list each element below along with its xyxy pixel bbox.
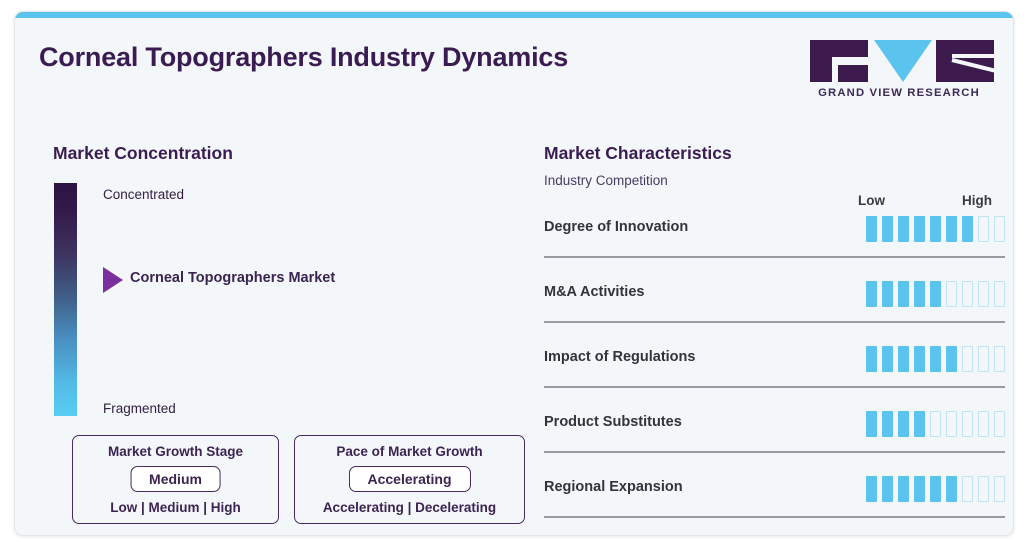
logo-r-icon [936,40,994,82]
rating-tick-empty [994,346,1005,372]
rating-tick-filled [882,281,893,307]
characteristic-row: Product Substitutes [544,403,1005,468]
characteristic-row: Degree of Innovation [544,208,1005,273]
rating-tick-empty [946,281,957,307]
market-growth-stage-options: Low | Medium | High [73,500,278,515]
logo-v-triangle-icon [874,40,932,82]
rating-tick-filled [866,476,877,502]
rating-tick-empty [978,346,989,372]
rating-tick-filled [930,281,941,307]
logo-marks [794,40,1004,82]
industry-competition-subheading: Industry Competition [544,173,668,188]
rating-tick-empty [962,346,973,372]
pace-of-market-growth-box: Pace of Market Growth Accelerating Accel… [294,435,525,524]
rating-tick-empty [930,411,941,437]
rating-tick-filled [930,476,941,502]
characteristic-rating-bars [866,411,1005,437]
characteristic-label: Product Substitutes [544,414,682,430]
market-growth-stage-box: Market Growth Stage Medium Low | Medium … [72,435,279,524]
rating-tick-filled [866,346,877,372]
rating-tick-empty [962,281,973,307]
card-accent-bar [15,12,1013,18]
rating-tick-filled [882,346,893,372]
rating-tick-filled [914,346,925,372]
rating-tick-filled [898,281,909,307]
market-growth-stage-value: Medium [130,466,221,492]
characteristic-label: Degree of Innovation [544,219,688,235]
rating-tick-filled [946,216,957,242]
characteristic-rating-bars [866,281,1005,307]
grand-view-research-logo: GRAND VIEW RESEARCH [794,40,1004,108]
rating-tick-filled [914,216,925,242]
rating-tick-empty [994,476,1005,502]
characteristic-label: Impact of Regulations [544,349,695,365]
rating-tick-empty [994,281,1005,307]
rating-tick-empty [994,216,1005,242]
rating-tick-filled [866,216,877,242]
row-divider [544,256,1005,258]
rating-tick-filled [866,281,877,307]
characteristic-row: Impact of Regulations [544,338,1005,403]
row-divider [544,321,1005,323]
rating-tick-filled [898,346,909,372]
rating-tick-filled [898,411,909,437]
page-title: Corneal Topographers Industry Dynamics [39,42,568,73]
concentration-top-label: Concentrated [103,187,184,202]
characteristic-label: M&A Activities [544,284,644,300]
pace-of-market-growth-value: Accelerating [348,466,470,492]
concentration-bottom-label: Fragmented [103,401,176,416]
rating-tick-filled [946,476,957,502]
characteristic-label: Regional Expansion [544,479,683,495]
row-divider [544,451,1005,453]
rating-tick-filled [866,411,877,437]
rating-tick-filled [882,411,893,437]
rating-tick-empty [978,216,989,242]
rating-tick-filled [930,346,941,372]
rating-tick-filled [962,216,973,242]
market-position-label: Corneal Topographers Market [130,270,335,286]
rating-tick-filled [898,476,909,502]
rating-tick-filled [914,281,925,307]
concentration-gradient-bar [54,183,77,416]
rating-tick-empty [962,476,973,502]
market-position-arrow-icon [103,267,123,293]
market-growth-stage-title: Market Growth Stage [73,444,278,459]
rating-tick-filled [882,476,893,502]
market-concentration-heading: Market Concentration [53,143,233,164]
rating-tick-filled [930,216,941,242]
rating-tick-empty [978,476,989,502]
row-divider [544,386,1005,388]
characteristic-row: M&A Activities [544,273,1005,338]
rating-tick-filled [882,216,893,242]
characteristic-rating-bars [866,216,1005,242]
row-divider [544,516,1005,518]
rating-tick-filled [898,216,909,242]
rating-tick-empty [994,411,1005,437]
characteristic-rating-bars [866,476,1005,502]
scale-high-label: High [962,193,992,208]
rating-tick-filled [946,346,957,372]
characteristic-row: Regional Expansion [544,468,1005,533]
rating-tick-empty [962,411,973,437]
logo-wordmark: GRAND VIEW RESEARCH [794,87,1004,99]
pace-of-market-growth-title: Pace of Market Growth [295,444,524,459]
rating-tick-filled [914,476,925,502]
rating-tick-empty [946,411,957,437]
rating-tick-filled [914,411,925,437]
market-characteristics-heading: Market Characteristics [544,143,732,164]
characteristic-rating-bars [866,346,1005,372]
pace-of-market-growth-options: Accelerating | Decelerating [295,500,524,515]
rating-tick-empty [978,411,989,437]
infographic-card: Corneal Topographers Industry Dynamics G… [14,11,1014,536]
rating-tick-empty [978,281,989,307]
logo-g-icon [810,40,868,82]
scale-low-label: Low [858,193,885,208]
